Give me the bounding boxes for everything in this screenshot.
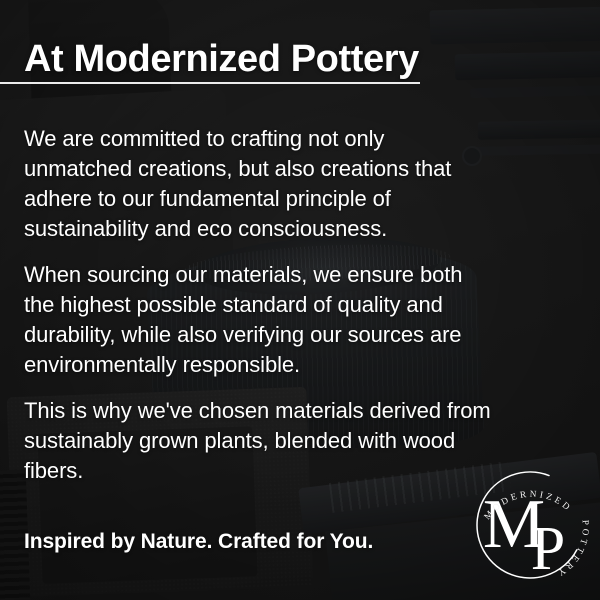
brand-logo: M P MODERNIZED POTTERY bbox=[466, 461, 594, 589]
tagline: Inspired by Nature. Crafted for You. bbox=[24, 528, 373, 556]
body-copy: We are committed to crafting not only un… bbox=[24, 124, 494, 486]
body-paragraph-1: We are committed to crafting not only un… bbox=[24, 124, 494, 244]
promo-card: At Modernized Pottery We are committed t… bbox=[0, 0, 600, 600]
title-underline-rule bbox=[0, 82, 420, 84]
page-title: At Modernized Pottery bbox=[24, 40, 419, 80]
body-paragraph-2: When sourcing our materials, we ensure b… bbox=[24, 260, 494, 380]
body-paragraph-3: This is why we've chosen materials deriv… bbox=[24, 396, 494, 486]
content-layer: At Modernized Pottery We are committed t… bbox=[0, 0, 600, 600]
